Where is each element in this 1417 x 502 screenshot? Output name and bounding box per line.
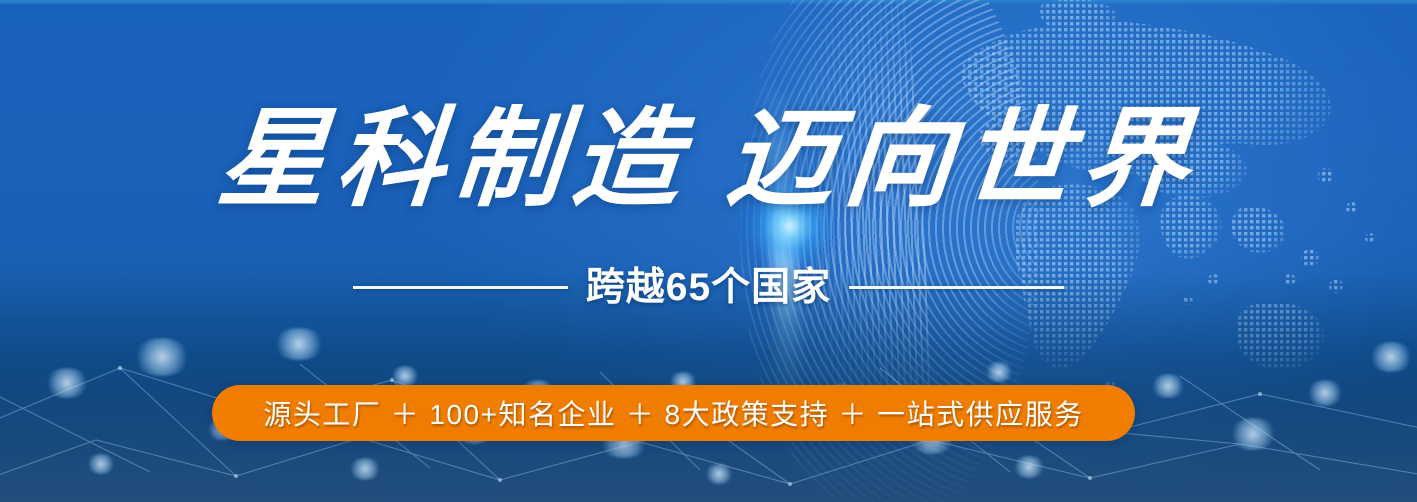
cta-pill-label: 源头工厂 ＋ 100+知名企业 ＋ 8大政策支持 ＋ 一站式供应服务 bbox=[263, 393, 1083, 433]
headline-part-1: 星科制造 bbox=[213, 101, 695, 220]
cta-pill-button[interactable]: 源头工厂 ＋ 100+知名企业 ＋ 8大政策支持 ＋ 一站式供应服务 bbox=[212, 385, 1135, 441]
rule-left bbox=[353, 286, 568, 289]
banner-headline: 星科制造迈向世界 bbox=[0, 96, 1417, 226]
banner-subtitle: 跨越65个国家 bbox=[586, 268, 831, 307]
headline-part-2: 迈向世界 bbox=[721, 101, 1203, 220]
subtitle-row: 跨越65个国家 bbox=[0, 268, 1417, 307]
rule-right bbox=[849, 286, 1064, 289]
promo-banner: 星科制造迈向世界 跨越65个国家 源头工厂 ＋ 100+知名企业 ＋ 8大政策支… bbox=[0, 0, 1417, 502]
